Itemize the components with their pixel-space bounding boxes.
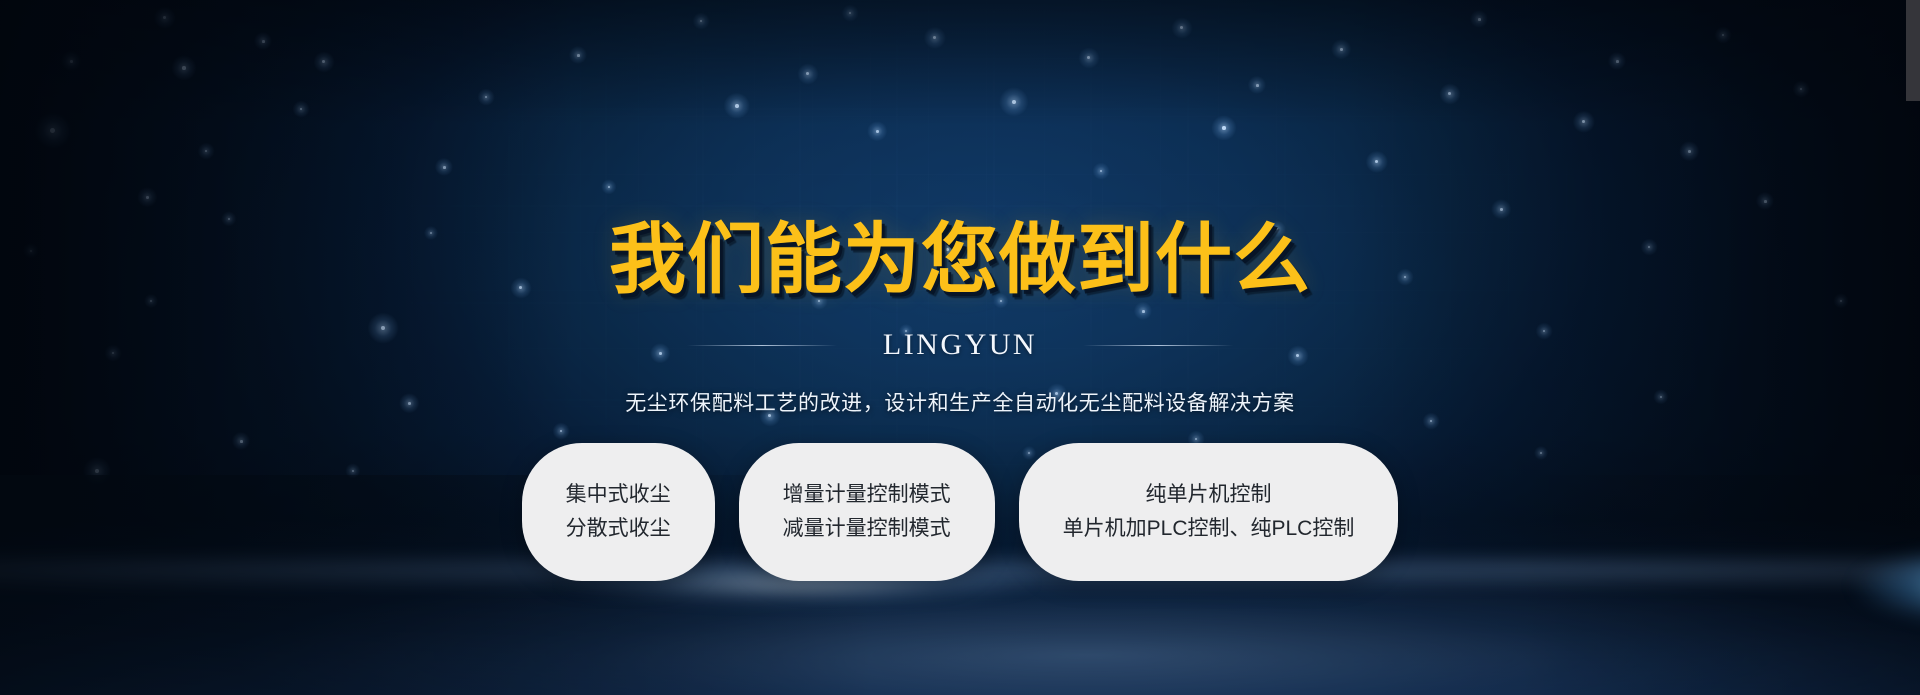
feature-card-line: 集中式收尘 (566, 478, 671, 512)
divider-line-right (1083, 345, 1233, 346)
banner-headline: 我们能为您做到什么 (0, 222, 1920, 299)
feature-card-line: 增量计量控制模式 (783, 478, 951, 512)
feature-card-line: 单片机加PLC控制、纯PLC控制 (1063, 512, 1355, 546)
brand-latin-text: LINGYUN (883, 328, 1037, 362)
banner-stage: 我们能为您做到什么 LINGYUN 无尘环保配料工艺的改进，设计和生产全自动化无… (0, 0, 1920, 695)
divider-line-left (687, 345, 837, 346)
feature-card-line: 纯单片机控制 (1145, 478, 1271, 512)
feature-card[interactable]: 集中式收尘 分散式收尘 (522, 443, 715, 581)
brand-latin-row: LINGYUN (0, 328, 1920, 362)
banner-content: 我们能为您做到什么 LINGYUN 无尘环保配料工艺的改进，设计和生产全自动化无… (0, 0, 1920, 695)
feature-card-line: 分散式收尘 (566, 512, 671, 546)
feature-card[interactable]: 纯单片机控制 单片机加PLC控制、纯PLC控制 (1019, 443, 1399, 581)
feature-card-list: 集中式收尘 分散式收尘 增量计量控制模式 减量计量控制模式 纯单片机控制 单片机… (0, 443, 1920, 581)
page-scrollbar[interactable] (1906, 0, 1920, 695)
feature-card[interactable]: 增量计量控制模式 减量计量控制模式 (739, 443, 995, 581)
feature-card-line: 减量计量控制模式 (783, 512, 951, 546)
banner-subtitle: 无尘环保配料工艺的改进，设计和生产全自动化无尘配料设备解决方案 (0, 387, 1920, 417)
page-scrollbar-thumb[interactable] (1906, 0, 1920, 101)
